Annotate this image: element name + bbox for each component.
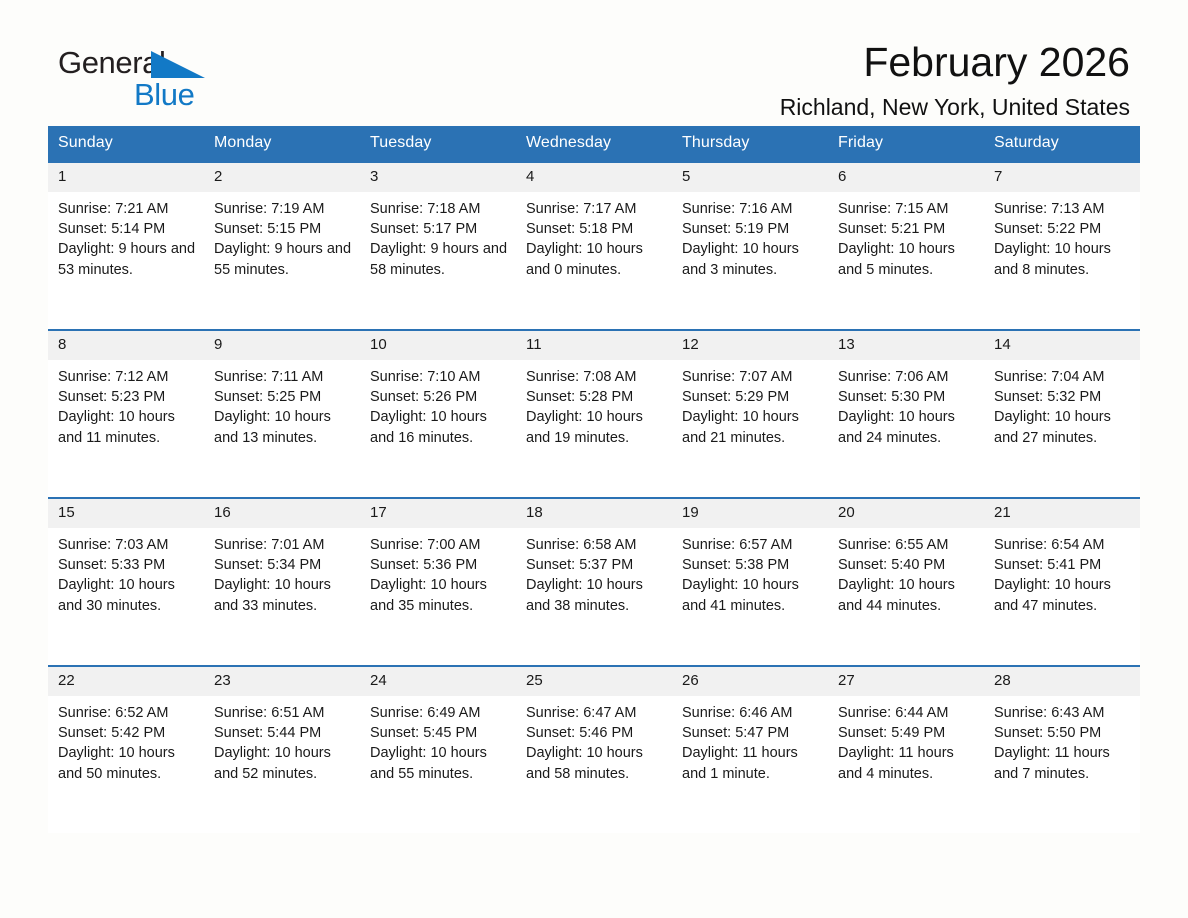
day-details: Sunrise: 7:06 AMSunset: 5:30 PMDaylight:… [828, 360, 984, 448]
daylight-text: Daylight: 11 hours and 4 minutes. [838, 743, 976, 783]
sunrise-text: Sunrise: 6:43 AM [994, 703, 1132, 723]
day-details: Sunrise: 7:16 AMSunset: 5:19 PMDaylight:… [672, 192, 828, 280]
title-block: February 2026 Richland, New York, United… [780, 38, 1130, 122]
calendar-day-cell[interactable]: 25Sunrise: 6:47 AMSunset: 5:46 PMDayligh… [516, 666, 672, 833]
day-number: 5 [672, 163, 828, 192]
day-cell-inner: 2Sunrise: 7:19 AMSunset: 5:15 PMDaylight… [204, 163, 360, 329]
sunrise-text: Sunrise: 7:03 AM [58, 535, 196, 555]
day-details: Sunrise: 7:10 AMSunset: 5:26 PMDaylight:… [360, 360, 516, 448]
day-number: 25 [516, 667, 672, 696]
sunset-text: Sunset: 5:30 PM [838, 387, 976, 407]
sunrise-text: Sunrise: 6:49 AM [370, 703, 508, 723]
day-details: Sunrise: 7:07 AMSunset: 5:29 PMDaylight:… [672, 360, 828, 448]
day-details: Sunrise: 6:47 AMSunset: 5:46 PMDaylight:… [516, 696, 672, 784]
sunrise-text: Sunrise: 7:11 AM [214, 367, 352, 387]
sunrise-text: Sunrise: 7:19 AM [214, 199, 352, 219]
weekday-header-sunday: Sunday [48, 126, 204, 162]
calendar-day-cell[interactable]: 14Sunrise: 7:04 AMSunset: 5:32 PMDayligh… [984, 330, 1140, 498]
day-cell-inner: 20Sunrise: 6:55 AMSunset: 5:40 PMDayligh… [828, 499, 984, 665]
sunrise-text: Sunrise: 7:17 AM [526, 199, 664, 219]
day-cell-inner: 21Sunrise: 6:54 AMSunset: 5:41 PMDayligh… [984, 499, 1140, 665]
day-details: Sunrise: 6:44 AMSunset: 5:49 PMDaylight:… [828, 696, 984, 784]
sunset-text: Sunset: 5:37 PM [526, 555, 664, 575]
sunrise-text: Sunrise: 7:01 AM [214, 535, 352, 555]
calendar-day-cell[interactable]: 2Sunrise: 7:19 AMSunset: 5:15 PMDaylight… [204, 162, 360, 330]
weekday-header-friday: Friday [828, 126, 984, 162]
sunset-text: Sunset: 5:45 PM [370, 723, 508, 743]
sunrise-text: Sunrise: 6:51 AM [214, 703, 352, 723]
calendar-day-cell[interactable]: 17Sunrise: 7:00 AMSunset: 5:36 PMDayligh… [360, 498, 516, 666]
day-details: Sunrise: 7:15 AMSunset: 5:21 PMDaylight:… [828, 192, 984, 280]
day-cell-inner: 18Sunrise: 6:58 AMSunset: 5:37 PMDayligh… [516, 499, 672, 665]
sunset-text: Sunset: 5:22 PM [994, 219, 1132, 239]
day-details: Sunrise: 7:11 AMSunset: 5:25 PMDaylight:… [204, 360, 360, 448]
sunset-text: Sunset: 5:18 PM [526, 219, 664, 239]
calendar-day-cell[interactable]: 8Sunrise: 7:12 AMSunset: 5:23 PMDaylight… [48, 330, 204, 498]
page-header: General Blue February 2026 Richland, New… [48, 0, 1140, 110]
day-cell-inner: 23Sunrise: 6:51 AMSunset: 5:44 PMDayligh… [204, 667, 360, 833]
daylight-text: Daylight: 10 hours and 50 minutes. [58, 743, 196, 783]
calendar-day-cell[interactable]: 22Sunrise: 6:52 AMSunset: 5:42 PMDayligh… [48, 666, 204, 833]
daylight-text: Daylight: 10 hours and 27 minutes. [994, 407, 1132, 447]
weekday-header-saturday: Saturday [984, 126, 1140, 162]
daylight-text: Daylight: 10 hours and 11 minutes. [58, 407, 196, 447]
day-details: Sunrise: 7:12 AMSunset: 5:23 PMDaylight:… [48, 360, 204, 448]
day-number: 9 [204, 331, 360, 360]
sunrise-text: Sunrise: 7:21 AM [58, 199, 196, 219]
calendar-day-cell[interactable]: 23Sunrise: 6:51 AMSunset: 5:44 PMDayligh… [204, 666, 360, 833]
calendar-week-row: 8Sunrise: 7:12 AMSunset: 5:23 PMDaylight… [48, 330, 1140, 498]
weekday-header-wednesday: Wednesday [516, 126, 672, 162]
day-cell-inner: 14Sunrise: 7:04 AMSunset: 5:32 PMDayligh… [984, 331, 1140, 497]
daylight-text: Daylight: 10 hours and 30 minutes. [58, 575, 196, 615]
sunrise-text: Sunrise: 7:18 AM [370, 199, 508, 219]
logo-text-blue: Blue [134, 77, 194, 112]
daylight-text: Daylight: 10 hours and 19 minutes. [526, 407, 664, 447]
sunrise-text: Sunrise: 6:46 AM [682, 703, 820, 723]
logo-text-general: General [58, 45, 166, 80]
day-number: 10 [360, 331, 516, 360]
day-number: 13 [828, 331, 984, 360]
calendar-day-cell[interactable]: 21Sunrise: 6:54 AMSunset: 5:41 PMDayligh… [984, 498, 1140, 666]
logo-triangle-icon [151, 51, 205, 78]
daylight-text: Daylight: 10 hours and 52 minutes. [214, 743, 352, 783]
sunrise-text: Sunrise: 7:00 AM [370, 535, 508, 555]
day-cell-inner: 4Sunrise: 7:17 AMSunset: 5:18 PMDaylight… [516, 163, 672, 329]
day-number: 19 [672, 499, 828, 528]
day-number: 8 [48, 331, 204, 360]
day-details: Sunrise: 7:21 AMSunset: 5:14 PMDaylight:… [48, 192, 204, 280]
calendar-day-cell[interactable]: 18Sunrise: 6:58 AMSunset: 5:37 PMDayligh… [516, 498, 672, 666]
daylight-text: Daylight: 10 hours and 5 minutes. [838, 239, 976, 279]
calendar-day-cell[interactable]: 13Sunrise: 7:06 AMSunset: 5:30 PMDayligh… [828, 330, 984, 498]
day-details: Sunrise: 7:19 AMSunset: 5:15 PMDaylight:… [204, 192, 360, 280]
sunset-text: Sunset: 5:46 PM [526, 723, 664, 743]
day-cell-inner: 17Sunrise: 7:00 AMSunset: 5:36 PMDayligh… [360, 499, 516, 665]
calendar-week-row: 22Sunrise: 6:52 AMSunset: 5:42 PMDayligh… [48, 666, 1140, 833]
day-cell-inner: 25Sunrise: 6:47 AMSunset: 5:46 PMDayligh… [516, 667, 672, 833]
daylight-text: Daylight: 10 hours and 24 minutes. [838, 407, 976, 447]
day-cell-inner: 15Sunrise: 7:03 AMSunset: 5:33 PMDayligh… [48, 499, 204, 665]
daylight-text: Daylight: 10 hours and 0 minutes. [526, 239, 664, 279]
daylight-text: Daylight: 10 hours and 41 minutes. [682, 575, 820, 615]
day-number: 15 [48, 499, 204, 528]
day-cell-inner: 1Sunrise: 7:21 AMSunset: 5:14 PMDaylight… [48, 163, 204, 329]
calendar-day-cell[interactable]: 12Sunrise: 7:07 AMSunset: 5:29 PMDayligh… [672, 330, 828, 498]
day-cell-inner: 8Sunrise: 7:12 AMSunset: 5:23 PMDaylight… [48, 331, 204, 497]
day-details: Sunrise: 6:43 AMSunset: 5:50 PMDaylight:… [984, 696, 1140, 784]
sunset-text: Sunset: 5:36 PM [370, 555, 508, 575]
calendar-day-cell[interactable]: 27Sunrise: 6:44 AMSunset: 5:49 PMDayligh… [828, 666, 984, 833]
day-cell-inner: 5Sunrise: 7:16 AMSunset: 5:19 PMDaylight… [672, 163, 828, 329]
daylight-text: Daylight: 10 hours and 55 minutes. [370, 743, 508, 783]
sunset-text: Sunset: 5:38 PM [682, 555, 820, 575]
day-cell-inner: 24Sunrise: 6:49 AMSunset: 5:45 PMDayligh… [360, 667, 516, 833]
sunrise-sunset-calendar: Sunday Monday Tuesday Wednesday Thursday… [48, 126, 1140, 833]
day-cell-inner: 19Sunrise: 6:57 AMSunset: 5:38 PMDayligh… [672, 499, 828, 665]
sunrise-text: Sunrise: 6:58 AM [526, 535, 664, 555]
day-cell-inner: 12Sunrise: 7:07 AMSunset: 5:29 PMDayligh… [672, 331, 828, 497]
sunrise-text: Sunrise: 7:06 AM [838, 367, 976, 387]
daylight-text: Daylight: 9 hours and 55 minutes. [214, 239, 352, 279]
daylight-text: Daylight: 9 hours and 58 minutes. [370, 239, 508, 279]
day-details: Sunrise: 7:03 AMSunset: 5:33 PMDaylight:… [48, 528, 204, 616]
calendar-day-cell[interactable]: 28Sunrise: 6:43 AMSunset: 5:50 PMDayligh… [984, 666, 1140, 833]
weekday-header-thursday: Thursday [672, 126, 828, 162]
sunset-text: Sunset: 5:17 PM [370, 219, 508, 239]
day-number: 18 [516, 499, 672, 528]
sunrise-text: Sunrise: 6:57 AM [682, 535, 820, 555]
day-cell-inner: 6Sunrise: 7:15 AMSunset: 5:21 PMDaylight… [828, 163, 984, 329]
calendar-day-cell[interactable]: 16Sunrise: 7:01 AMSunset: 5:34 PMDayligh… [204, 498, 360, 666]
day-number: 28 [984, 667, 1140, 696]
logo-line-1: General [58, 45, 258, 81]
day-cell-inner: 28Sunrise: 6:43 AMSunset: 5:50 PMDayligh… [984, 667, 1140, 833]
sunrise-text: Sunrise: 7:08 AM [526, 367, 664, 387]
daylight-text: Daylight: 10 hours and 44 minutes. [838, 575, 976, 615]
day-cell-inner: 3Sunrise: 7:18 AMSunset: 5:17 PMDaylight… [360, 163, 516, 329]
weekday-header-tuesday: Tuesday [360, 126, 516, 162]
sunset-text: Sunset: 5:28 PM [526, 387, 664, 407]
day-number: 14 [984, 331, 1140, 360]
sunset-text: Sunset: 5:42 PM [58, 723, 196, 743]
sunrise-text: Sunrise: 6:54 AM [994, 535, 1132, 555]
day-cell-inner: 9Sunrise: 7:11 AMSunset: 5:25 PMDaylight… [204, 331, 360, 497]
daylight-text: Daylight: 10 hours and 13 minutes. [214, 407, 352, 447]
daylight-text: Daylight: 10 hours and 3 minutes. [682, 239, 820, 279]
daylight-text: Daylight: 10 hours and 38 minutes. [526, 575, 664, 615]
location-subtitle: Richland, New York, United States [780, 92, 1130, 122]
daylight-text: Daylight: 10 hours and 16 minutes. [370, 407, 508, 447]
day-details: Sunrise: 7:00 AMSunset: 5:36 PMDaylight:… [360, 528, 516, 616]
sunset-text: Sunset: 5:26 PM [370, 387, 508, 407]
sunset-text: Sunset: 5:25 PM [214, 387, 352, 407]
day-number: 17 [360, 499, 516, 528]
day-cell-inner: 7Sunrise: 7:13 AMSunset: 5:22 PMDaylight… [984, 163, 1140, 329]
day-details: Sunrise: 7:13 AMSunset: 5:22 PMDaylight:… [984, 192, 1140, 280]
calendar-day-cell[interactable]: 1Sunrise: 7:21 AMSunset: 5:14 PMDaylight… [48, 162, 204, 330]
sunset-text: Sunset: 5:15 PM [214, 219, 352, 239]
calendar-page: General Blue February 2026 Richland, New… [0, 0, 1188, 918]
sunrise-text: Sunrise: 6:55 AM [838, 535, 976, 555]
calendar-day-cell[interactable]: 20Sunrise: 6:55 AMSunset: 5:40 PMDayligh… [828, 498, 984, 666]
day-details: Sunrise: 7:18 AMSunset: 5:17 PMDaylight:… [360, 192, 516, 280]
day-cell-inner: 13Sunrise: 7:06 AMSunset: 5:30 PMDayligh… [828, 331, 984, 497]
day-number: 12 [672, 331, 828, 360]
day-number: 3 [360, 163, 516, 192]
day-details: Sunrise: 6:51 AMSunset: 5:44 PMDaylight:… [204, 696, 360, 784]
sunset-text: Sunset: 5:34 PM [214, 555, 352, 575]
day-cell-inner: 11Sunrise: 7:08 AMSunset: 5:28 PMDayligh… [516, 331, 672, 497]
day-number: 23 [204, 667, 360, 696]
day-details: Sunrise: 7:01 AMSunset: 5:34 PMDaylight:… [204, 528, 360, 616]
page-title: February 2026 [780, 38, 1130, 86]
sunset-text: Sunset: 5:49 PM [838, 723, 976, 743]
daylight-text: Daylight: 10 hours and 35 minutes. [370, 575, 508, 615]
sunset-text: Sunset: 5:47 PM [682, 723, 820, 743]
sunrise-text: Sunrise: 7:07 AM [682, 367, 820, 387]
day-cell-inner: 27Sunrise: 6:44 AMSunset: 5:49 PMDayligh… [828, 667, 984, 833]
day-cell-inner: 22Sunrise: 6:52 AMSunset: 5:42 PMDayligh… [48, 667, 204, 833]
day-number: 21 [984, 499, 1140, 528]
day-number: 2 [204, 163, 360, 192]
day-details: Sunrise: 6:52 AMSunset: 5:42 PMDaylight:… [48, 696, 204, 784]
day-cell-inner: 16Sunrise: 7:01 AMSunset: 5:34 PMDayligh… [204, 499, 360, 665]
calendar-day-cell[interactable]: 9Sunrise: 7:11 AMSunset: 5:25 PMDaylight… [204, 330, 360, 498]
day-number: 27 [828, 667, 984, 696]
sunrise-text: Sunrise: 7:04 AM [994, 367, 1132, 387]
day-number: 1 [48, 163, 204, 192]
daylight-text: Daylight: 10 hours and 21 minutes. [682, 407, 820, 447]
general-blue-logo[interactable]: General Blue [58, 45, 258, 115]
sunset-text: Sunset: 5:19 PM [682, 219, 820, 239]
sunset-text: Sunset: 5:40 PM [838, 555, 976, 575]
day-cell-inner: 26Sunrise: 6:46 AMSunset: 5:47 PMDayligh… [672, 667, 828, 833]
logo-line-2: Blue [58, 78, 258, 112]
day-details: Sunrise: 7:08 AMSunset: 5:28 PMDaylight:… [516, 360, 672, 448]
daylight-text: Daylight: 9 hours and 53 minutes. [58, 239, 196, 279]
calendar-day-cell[interactable]: 4Sunrise: 7:17 AMSunset: 5:18 PMDaylight… [516, 162, 672, 330]
calendar-day-cell[interactable]: 24Sunrise: 6:49 AMSunset: 5:45 PMDayligh… [360, 666, 516, 833]
sunrise-text: Sunrise: 7:12 AM [58, 367, 196, 387]
day-details: Sunrise: 6:55 AMSunset: 5:40 PMDaylight:… [828, 528, 984, 616]
sunrise-text: Sunrise: 6:47 AM [526, 703, 664, 723]
calendar-day-cell[interactable]: 7Sunrise: 7:13 AMSunset: 5:22 PMDaylight… [984, 162, 1140, 330]
weekday-header-monday: Monday [204, 126, 360, 162]
calendar-day-cell[interactable]: 15Sunrise: 7:03 AMSunset: 5:33 PMDayligh… [48, 498, 204, 666]
day-number: 16 [204, 499, 360, 528]
daylight-text: Daylight: 10 hours and 8 minutes. [994, 239, 1132, 279]
day-details: Sunrise: 6:46 AMSunset: 5:47 PMDaylight:… [672, 696, 828, 784]
sunrise-text: Sunrise: 7:13 AM [994, 199, 1132, 219]
sunrise-text: Sunrise: 6:44 AM [838, 703, 976, 723]
sunset-text: Sunset: 5:29 PM [682, 387, 820, 407]
day-number: 24 [360, 667, 516, 696]
sunset-text: Sunset: 5:41 PM [994, 555, 1132, 575]
sunset-text: Sunset: 5:14 PM [58, 219, 196, 239]
day-number: 6 [828, 163, 984, 192]
sunset-text: Sunset: 5:23 PM [58, 387, 196, 407]
sunset-text: Sunset: 5:21 PM [838, 219, 976, 239]
daylight-text: Daylight: 11 hours and 7 minutes. [994, 743, 1132, 783]
daylight-text: Daylight: 10 hours and 33 minutes. [214, 575, 352, 615]
sunrise-text: Sunrise: 7:15 AM [838, 199, 976, 219]
calendar-day-cell[interactable]: 3Sunrise: 7:18 AMSunset: 5:17 PMDaylight… [360, 162, 516, 330]
sunrise-text: Sunrise: 7:16 AM [682, 199, 820, 219]
day-details: Sunrise: 6:49 AMSunset: 5:45 PMDaylight:… [360, 696, 516, 784]
sunrise-text: Sunrise: 6:52 AM [58, 703, 196, 723]
daylight-text: Daylight: 10 hours and 47 minutes. [994, 575, 1132, 615]
calendar-day-cell[interactable]: 6Sunrise: 7:15 AMSunset: 5:21 PMDaylight… [828, 162, 984, 330]
daylight-text: Daylight: 11 hours and 1 minute. [682, 743, 820, 783]
sunset-text: Sunset: 5:33 PM [58, 555, 196, 575]
day-number: 7 [984, 163, 1140, 192]
sunset-text: Sunset: 5:32 PM [994, 387, 1132, 407]
calendar-day-cell[interactable]: 11Sunrise: 7:08 AMSunset: 5:28 PMDayligh… [516, 330, 672, 498]
calendar-day-cell[interactable]: 19Sunrise: 6:57 AMSunset: 5:38 PMDayligh… [672, 498, 828, 666]
sunset-text: Sunset: 5:44 PM [214, 723, 352, 743]
day-number: 4 [516, 163, 672, 192]
calendar-week-row: 1Sunrise: 7:21 AMSunset: 5:14 PMDaylight… [48, 162, 1140, 330]
day-details: Sunrise: 6:54 AMSunset: 5:41 PMDaylight:… [984, 528, 1140, 616]
calendar-day-cell[interactable]: 10Sunrise: 7:10 AMSunset: 5:26 PMDayligh… [360, 330, 516, 498]
day-number: 11 [516, 331, 672, 360]
day-cell-inner: 10Sunrise: 7:10 AMSunset: 5:26 PMDayligh… [360, 331, 516, 497]
daylight-text: Daylight: 10 hours and 58 minutes. [526, 743, 664, 783]
day-details: Sunrise: 6:57 AMSunset: 5:38 PMDaylight:… [672, 528, 828, 616]
day-number: 26 [672, 667, 828, 696]
sunrise-text: Sunrise: 7:10 AM [370, 367, 508, 387]
weekday-header-row: Sunday Monday Tuesday Wednesday Thursday… [48, 126, 1140, 162]
day-details: Sunrise: 6:58 AMSunset: 5:37 PMDaylight:… [516, 528, 672, 616]
calendar-week-row: 15Sunrise: 7:03 AMSunset: 5:33 PMDayligh… [48, 498, 1140, 666]
day-details: Sunrise: 7:17 AMSunset: 5:18 PMDaylight:… [516, 192, 672, 280]
calendar-day-cell[interactable]: 5Sunrise: 7:16 AMSunset: 5:19 PMDaylight… [672, 162, 828, 330]
day-number: 22 [48, 667, 204, 696]
calendar-day-cell[interactable]: 26Sunrise: 6:46 AMSunset: 5:47 PMDayligh… [672, 666, 828, 833]
sunset-text: Sunset: 5:50 PM [994, 723, 1132, 743]
day-details: Sunrise: 7:04 AMSunset: 5:32 PMDaylight:… [984, 360, 1140, 448]
day-number: 20 [828, 499, 984, 528]
